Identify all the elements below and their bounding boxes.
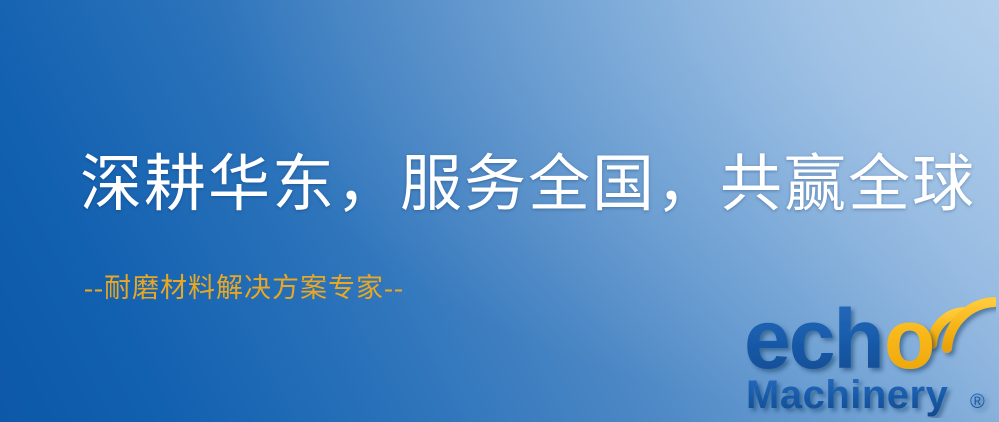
banner-subtitle: --耐磨材料解决方案专家--: [84, 266, 404, 305]
registered-trademark-icon: ®: [970, 391, 985, 413]
signal-arcs-icon: [932, 302, 994, 348]
logo-artwork: ech o Machinery ®: [744, 292, 996, 418]
svg-text:o: o: [884, 292, 935, 386]
logo-wordmark-gold-o: o: [884, 292, 935, 386]
banner-headline: 深耕华东，服务全国，共赢全球: [80, 152, 976, 219]
hero-banner: 深耕华东，服务全国，共赢全球 --耐磨材料解决方案专家--: [0, 0, 999, 422]
svg-text:Machinery: Machinery: [746, 373, 949, 417]
svg-text:ech: ech: [744, 292, 883, 386]
logo-wordmark-blue: ech: [744, 292, 883, 386]
logo-tagline: Machinery ®: [746, 373, 985, 417]
echo-machinery-logo[interactable]: ech o Machinery ®: [744, 292, 996, 418]
